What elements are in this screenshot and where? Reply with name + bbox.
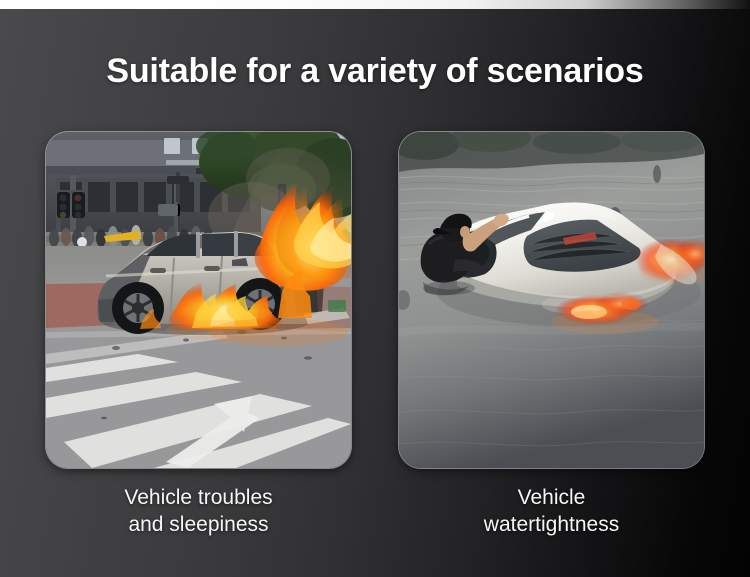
car-fire-photo xyxy=(46,132,351,468)
caption-line-2: watertightness xyxy=(399,511,704,538)
scenario-card-list xyxy=(46,132,704,468)
caption-line-1: Vehicle xyxy=(518,486,586,509)
scenario-card-vehicle-troubles[interactable] xyxy=(46,132,351,468)
page-title: Suitable for a variety of scenarios xyxy=(0,52,750,91)
submerged-car-photo xyxy=(399,132,704,468)
caption-line-2: and sleepiness xyxy=(46,511,351,538)
caption-vehicle-watertightness: Vehicle watertightness xyxy=(399,484,704,538)
slide-root: Suitable for a variety of scenarios xyxy=(0,0,750,577)
caption-list: Vehicle troubles and sleepiness Vehicle … xyxy=(46,484,704,538)
top-edge-strip xyxy=(0,0,750,9)
caption-line-1: Vehicle troubles xyxy=(124,486,272,509)
scenario-card-vehicle-watertightness[interactable] xyxy=(399,132,704,468)
caption-vehicle-troubles: Vehicle troubles and sleepiness xyxy=(46,484,351,538)
